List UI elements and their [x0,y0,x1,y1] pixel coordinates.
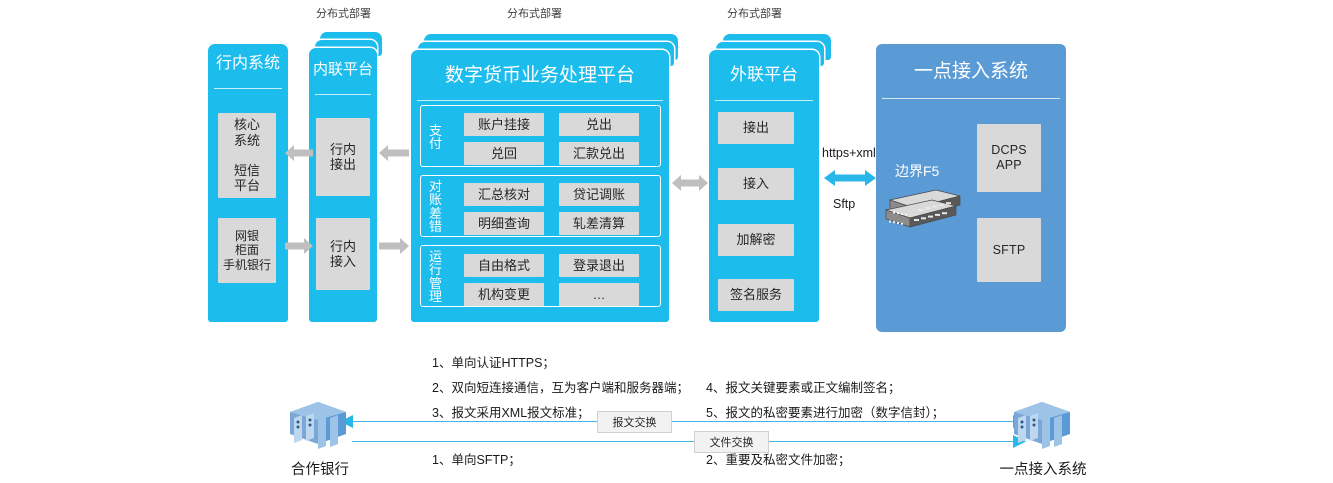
panel-onepoint-rule [882,98,1060,99]
panel-extranet-title: 外联平台 [709,66,819,83]
flowline-file-exchange [352,441,1014,442]
server-partner-bank-icon [288,400,350,454]
node-label-partner-bank: 合作银行 [272,458,368,479]
panel-intranet-title: 内联平台 [309,62,377,77]
f5-switch-icon [884,186,964,228]
architecture-diagram: 分布式部署 分布式部署 分布式部署 行内系统 核心 系统 短信 平台 网银 柜面… [0,0,1333,345]
chip-summary-check[interactable]: 汇总核对 [464,183,544,206]
protocol-https-xml-label: https+xml [822,146,876,160]
flowline-message-exchange [352,421,1014,422]
panel-dcep-title: 数字货币业务处理平台 [411,66,669,85]
chip-free-format[interactable]: 自由格式 [464,254,544,277]
panel-intranet-rule [315,94,371,95]
node-label-onepoint-access: 一点接入系统 [995,458,1091,479]
chip-credit-adjust[interactable]: 贷记调账 [559,183,639,206]
note-left-3: 3、报文采用XML报文标准； [432,402,590,421]
f5-label: 边界F5 [895,161,939,181]
note-right-5: 5、报文的私密要素进行加密（数字信封）； [706,402,944,421]
chip-detail-query[interactable]: 明细查询 [464,212,544,235]
chip-netting-settle[interactable]: 轧差清算 [559,212,639,235]
protocol-sftp-label: Sftp [833,197,855,211]
arrow-core-to-intranet-left-icon [285,145,313,161]
panel-inbank-rule [214,88,282,89]
chip-dcps-app[interactable]: DCPS APP [977,124,1041,192]
arrow-dcep-extranet-bidirectional-icon [672,174,708,192]
note-bottom-left-1: 1、单向SFTP； [432,449,521,468]
chip-sftp[interactable]: SFTP [977,218,1041,282]
server-onepoint-access-icon [1012,400,1074,454]
group-operations-label: 运行管理 [428,250,443,303]
stack-label-extranet: 分布式部署 [727,5,782,21]
arrow-ebank-to-intranet-right-icon [285,238,313,254]
chip-remittance-out[interactable]: 汇款兑出 [559,142,639,165]
chip-core-system[interactable]: 核心 系统 短信 平台 [218,113,276,198]
chip-account-link[interactable]: 账户挂接 [464,113,544,136]
panel-onepoint-title: 一点接入系统 [876,62,1066,81]
chip-exchange-back[interactable]: 兑回 [464,142,544,165]
arrow-intranet-to-dcep-right-icon [379,238,409,254]
arrow-extranet-onepoint-bidirectional-icon [824,168,876,188]
chip-encrypt-decrypt[interactable]: 加解密 [718,224,794,256]
note-left-2: 2、双向短连接通信，互为客户端和服务器端； [432,377,689,396]
chip-signature-service[interactable]: 签名服务 [718,279,794,311]
protocol-notes-section: 1、单向认证HTTPS； 2、双向短连接通信，互为客户端和服务器端； 3、报文采… [0,345,1333,483]
chip-org-change[interactable]: 机构变更 [464,283,544,306]
panel-dcep-rule [417,100,663,101]
panel-extranet-rule [715,100,813,101]
chip-login-logout[interactable]: 登录退出 [559,254,639,277]
chip-ebank-counter-mobile[interactable]: 网银 柜面 手机银行 [218,218,276,283]
group-payment-label: 支付 [428,124,443,151]
note-right-4: 4、报文关键要素或正文编制签名； [706,377,900,396]
chip-inbank-outbound[interactable]: 行内 接出 [316,118,370,196]
group-reconciliation-label: 对账差错 [428,180,443,233]
chip-exchange-out[interactable]: 兑出 [559,113,639,136]
chip-inbank-inbound[interactable]: 行内 接入 [316,218,370,290]
chip-more[interactable]: … [559,283,639,306]
note-bottom-right-2: 2、重要及私密文件加密； [706,449,850,468]
stack-label-dcep: 分布式部署 [507,5,562,21]
note-left-1: 1、单向认证HTTPS； [432,352,555,371]
arrow-dcep-to-intranet-left-icon [379,145,409,161]
pill-message-exchange[interactable]: 报文交换 [597,411,672,433]
panel-inbank-title: 行内系统 [208,56,288,72]
chip-ext-outbound[interactable]: 接出 [718,112,794,144]
chip-ext-inbound[interactable]: 接入 [718,168,794,200]
stack-label-intranet: 分布式部署 [316,5,371,21]
